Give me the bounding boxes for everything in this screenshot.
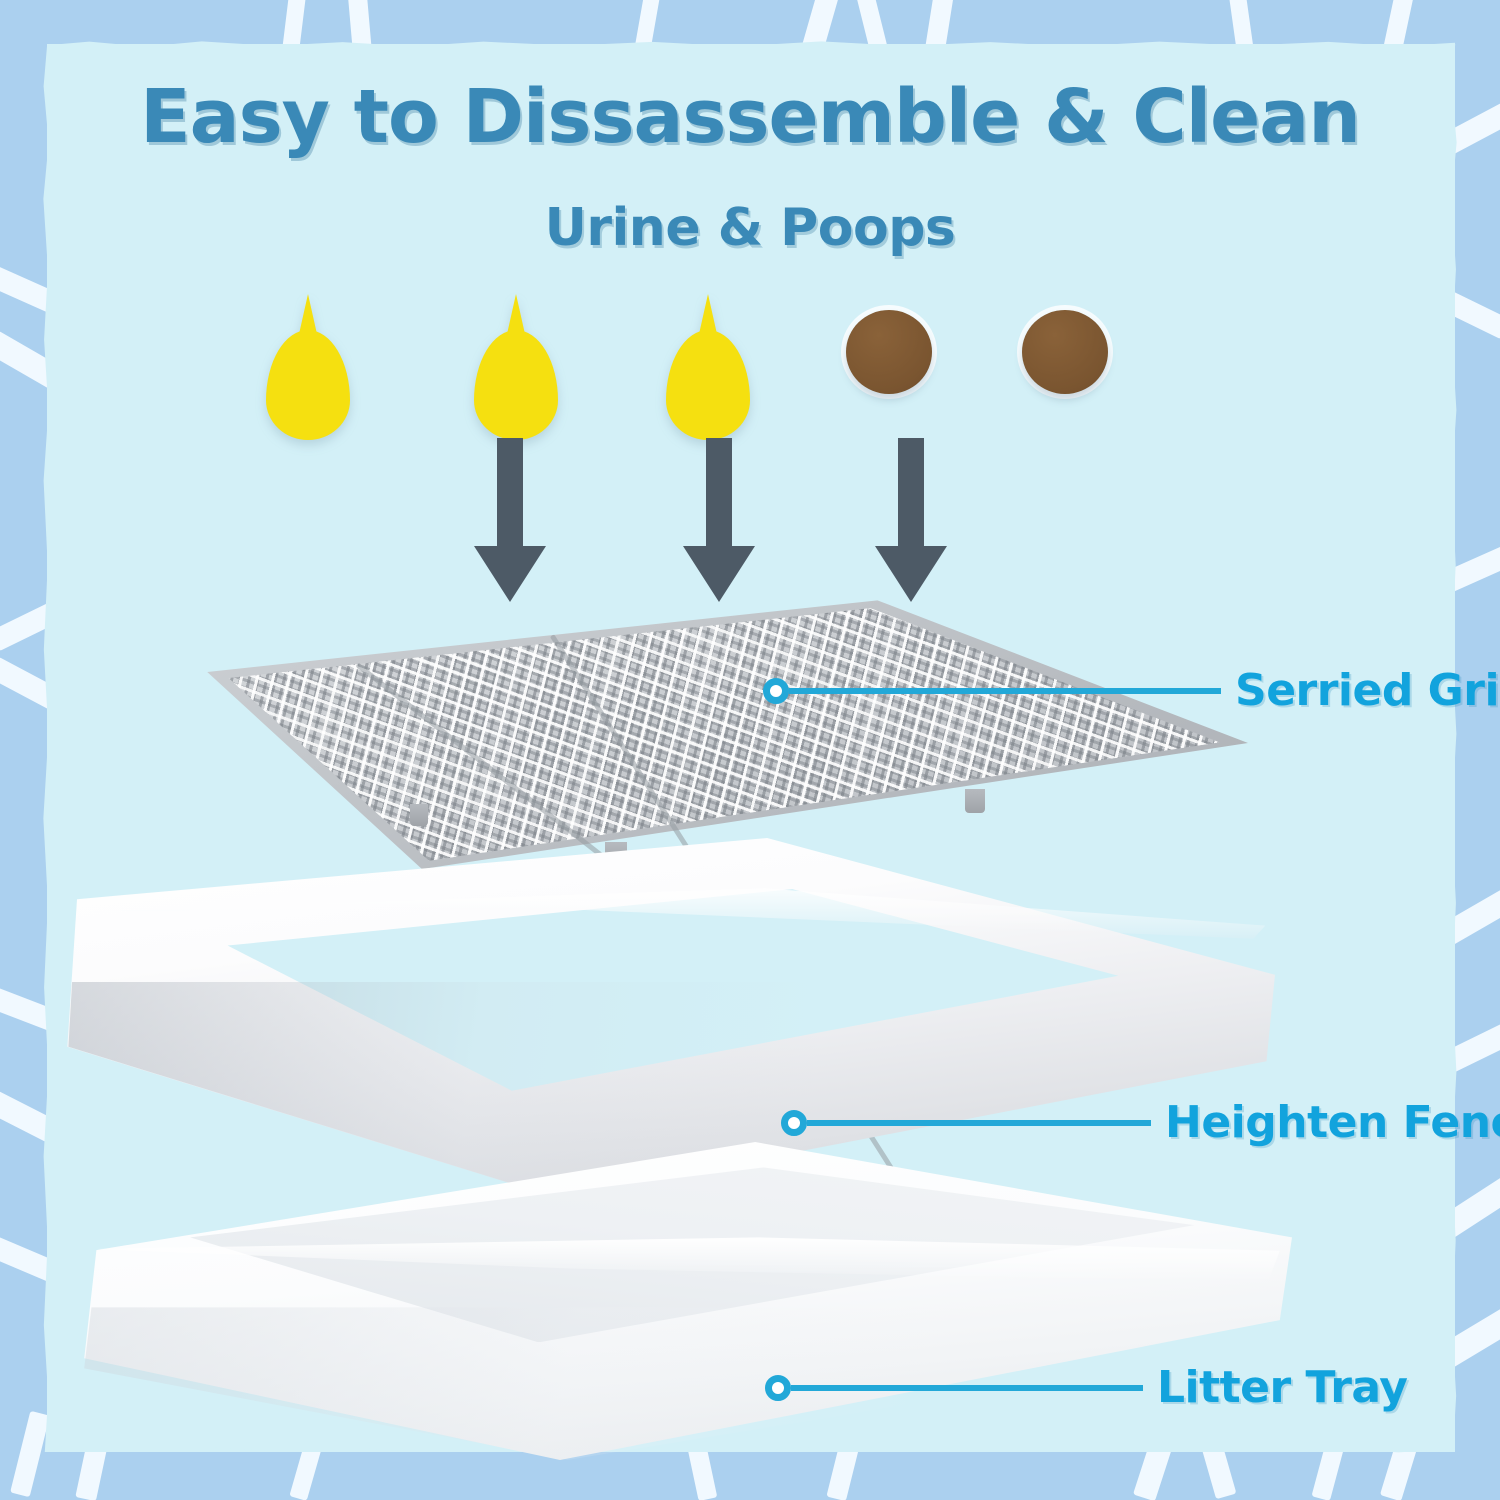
callout-label: Heighten Fence [1165,1097,1500,1148]
callout-dot-icon [765,1375,791,1401]
page-title: Easy to Dissassemble & Clean [0,74,1500,160]
callout-leader-line [789,688,1221,694]
callout-heighten-fence[interactable]: Heighten Fence [781,1097,1500,1148]
infographic-canvas: Easy to Dissassemble & Clean Urine & Poo… [0,0,1500,1500]
grid-foot [410,804,428,826]
callout-dot-icon [763,678,789,704]
callout-leader-line [807,1120,1151,1126]
callout-label: Serried Grid [1235,665,1500,716]
page-subtitle: Urine & Poops [0,198,1500,258]
grid-foot [965,789,985,813]
callout-litter-tray[interactable]: Litter Tray [765,1362,1407,1413]
callout-serried-grid[interactable]: Serried Grid [763,665,1500,716]
callout-leader-line [791,1385,1143,1391]
callout-label: Litter Tray [1157,1362,1407,1413]
callout-dot-icon [781,1110,807,1136]
